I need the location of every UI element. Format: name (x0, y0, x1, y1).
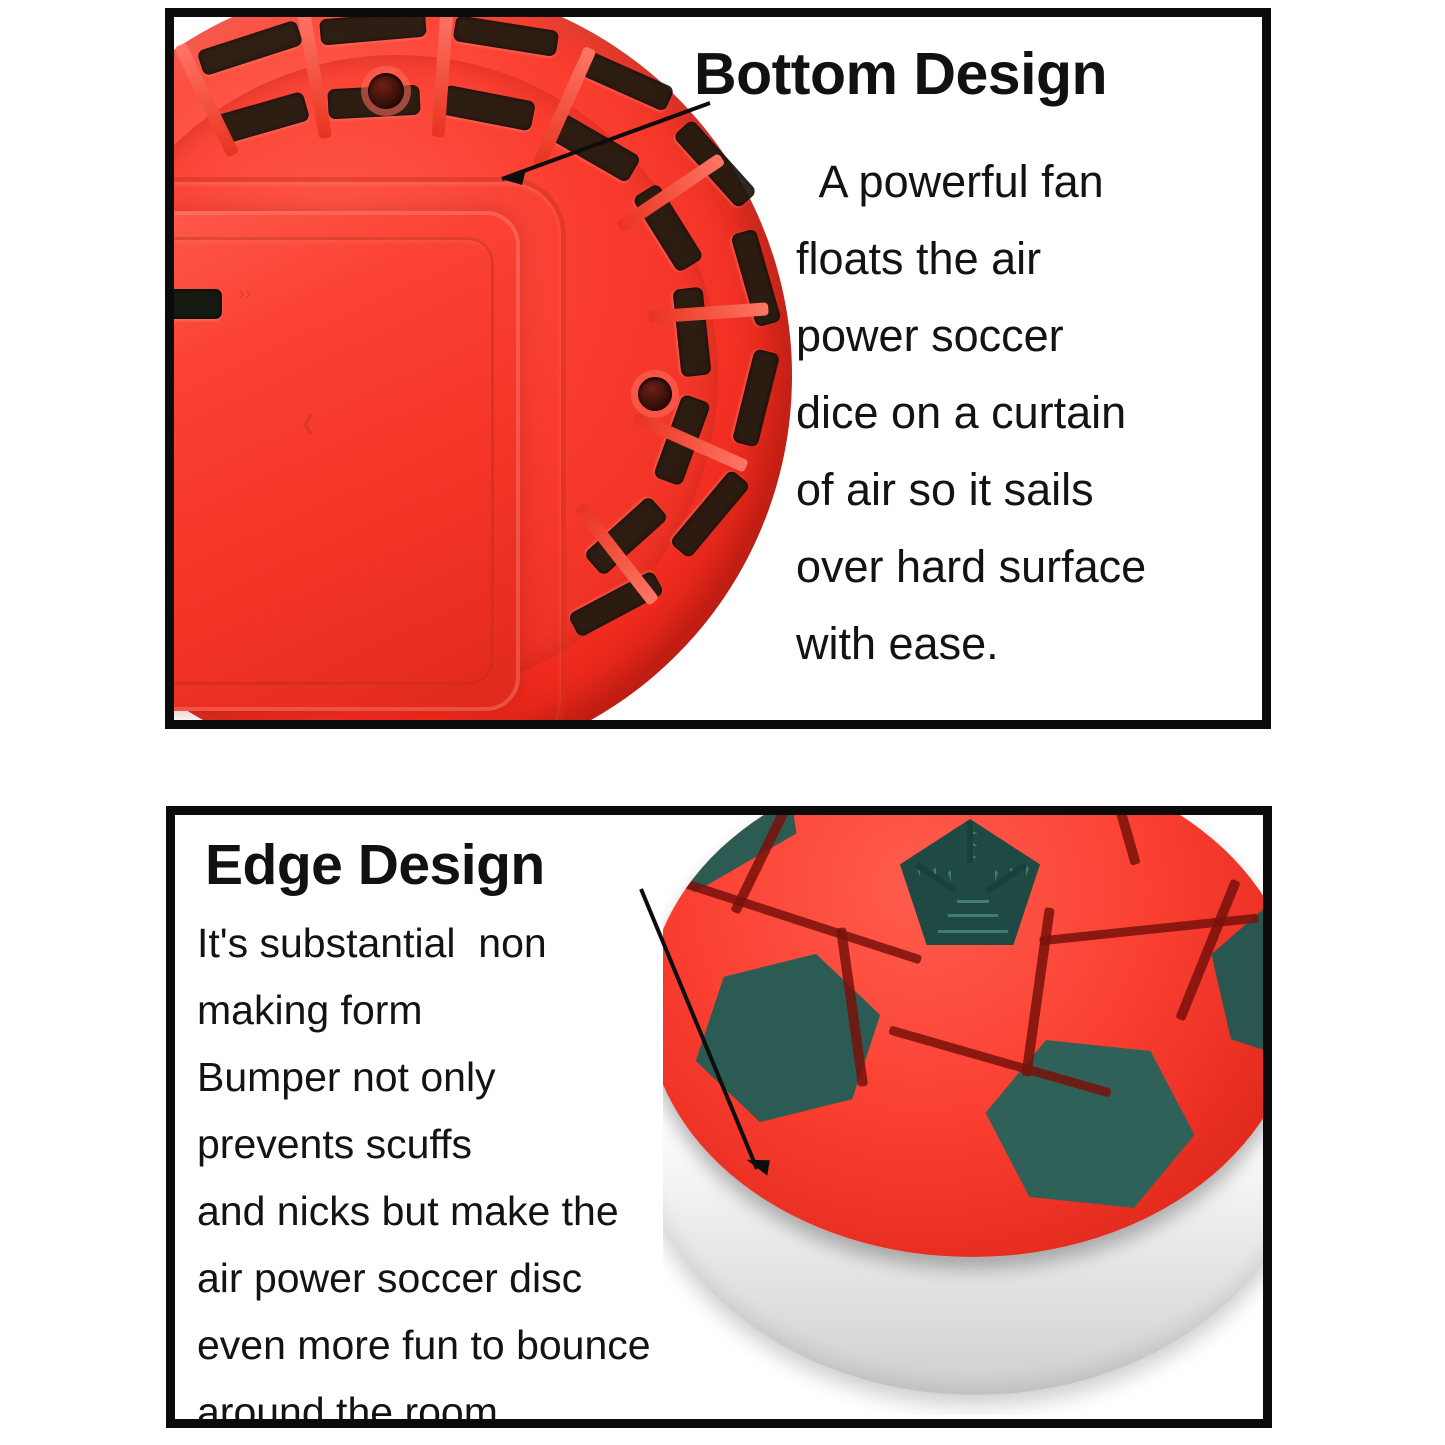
vent-slot (453, 17, 560, 57)
ball-seam (1095, 815, 1140, 866)
vent-slot (319, 17, 427, 46)
soccer-ball-disc-top (663, 815, 1263, 1257)
vent-slot (732, 348, 780, 447)
vent-slot (197, 20, 304, 77)
red-hover-soccer-disc-top-photo (663, 815, 1263, 1415)
screw-hole (368, 73, 404, 109)
panel-title-bottom-design: Bottom Design (694, 45, 1107, 104)
molded-marking: ›› (238, 283, 251, 306)
battery-cover: ▸▸ ›› ❮ (174, 211, 520, 711)
panel-body-bottom-design: A powerful fan floats the air power socc… (796, 143, 1146, 682)
panel-title-edge-design: Edge Design (205, 837, 545, 894)
battery-cover-slot (174, 289, 222, 319)
disc-outer-rim: ▸▸ ›› ❮ (174, 17, 792, 720)
panel-bottom-design: ▸▸ ›› ❮ Bottom Design A powerful fan flo… (165, 8, 1271, 729)
panel-body-edge-design: It's substantial non making form Bumper … (197, 910, 651, 1428)
molded-marking: ❮ (300, 411, 317, 436)
ball-seam (682, 879, 923, 965)
panel-edge-design: Edge Design It's substantial non making … (166, 806, 1272, 1428)
fan-grille-rib (967, 821, 973, 863)
screw-hole (638, 377, 672, 411)
ball-panel-teal (678, 942, 899, 1134)
red-hover-disc-underside-photo: ▸▸ ›› ❮ (174, 17, 794, 720)
